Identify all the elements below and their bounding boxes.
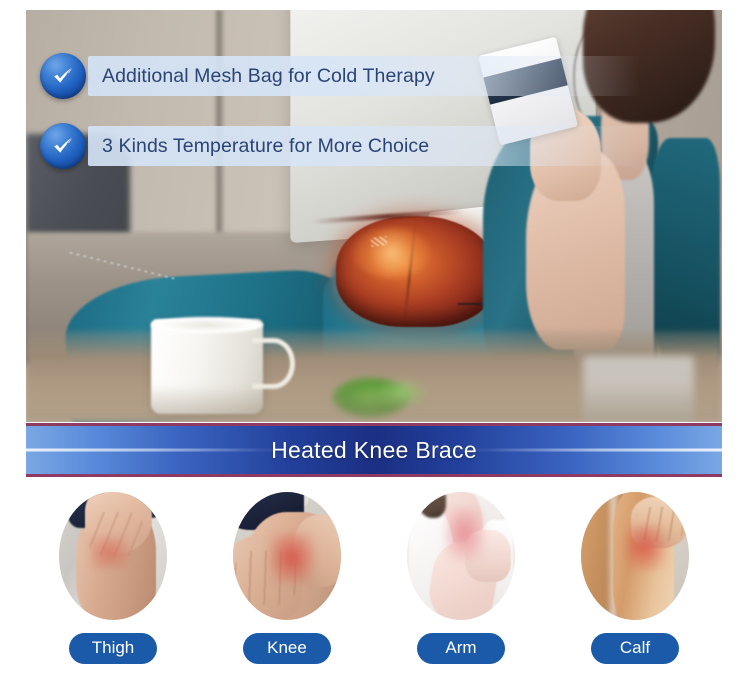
part-label-thigh[interactable]: Thigh [69,633,157,664]
part-label-arm[interactable]: Arm [417,633,505,664]
part-card-thigh[interactable]: Thigh [38,492,188,664]
body-part-gallery: Thigh Knee Arm [26,492,722,682]
part-card-calf[interactable]: Calf [560,492,710,664]
feature-label: Additional Mesh Bag for Cold Therapy [102,65,435,88]
part-label-knee[interactable]: Knee [243,633,331,664]
foreground-blur [26,385,722,422]
feature-item: 3 Kinds Temperature for More Choice [40,122,640,170]
check-circle-icon [40,53,86,99]
feature-label: 3 Kinds Temperature for More Choice [102,135,429,158]
calf-pain-glow [624,525,667,571]
arm-hair [418,492,446,518]
part-image-thigh [59,492,167,620]
part-image-arm [407,492,515,620]
thigh-pain-glow [91,536,128,569]
arm-pain-glow [444,507,485,561]
feature-item: Additional Mesh Bag for Cold Therapy [40,52,640,100]
check-circle-icon [40,123,86,169]
part-image-calf [581,492,689,620]
brace-heat-glow [353,228,430,277]
part-image-knee [233,492,341,620]
hero-image: Additional Mesh Bag for Cold Therapy 3 K… [26,10,722,422]
product-title-banner: Heated Knee Brace [26,423,722,477]
part-label-calf[interactable]: Calf [591,633,679,664]
page-title: Heated Knee Brace [271,437,477,464]
part-card-knee[interactable]: Knee [212,492,362,664]
feature-list: Additional Mesh Bag for Cold Therapy 3 K… [40,52,640,192]
knee-pain-glow [270,533,315,584]
brace-logo [370,236,387,247]
part-card-arm[interactable]: Arm [386,492,536,664]
